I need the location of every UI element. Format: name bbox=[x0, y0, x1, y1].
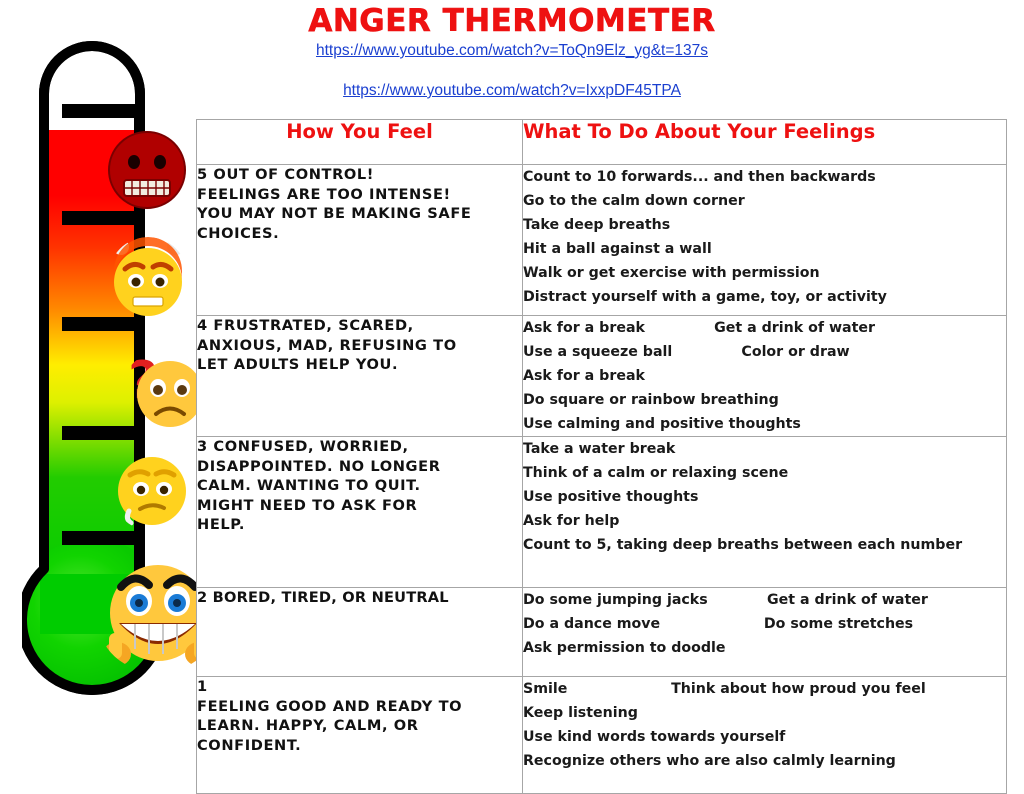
do-cell-level-4: Ask for a break Get a drink of water Use… bbox=[523, 316, 1007, 437]
header-what-to-do: What To Do About Your Feelings bbox=[523, 120, 1007, 165]
do-line: Use kind words towards yourself bbox=[523, 725, 1006, 749]
do-line: Ask for a break Get a drink of water bbox=[523, 316, 1006, 340]
feel-cell-level-5: 5 OUT OF CONTROL! FEELINGS ARE TOO INTEN… bbox=[197, 165, 523, 316]
thermometer-tick-1 bbox=[62, 531, 140, 545]
emoji-worried-face bbox=[112, 451, 192, 531]
emoji-confused-question-face: ? bbox=[122, 350, 206, 432]
thermometer-tick-2 bbox=[62, 426, 140, 440]
do-line: Use calming and positive thoughts bbox=[523, 412, 1006, 436]
do-line: Distract yourself with a game, toy, or a… bbox=[523, 285, 1006, 309]
do-line: Walk or get exercise with permission bbox=[523, 261, 1006, 285]
do-line: Think of a calm or relaxing scene bbox=[523, 461, 1006, 485]
do-line: Go to the calm down corner bbox=[523, 189, 1006, 213]
do-cell-level-3: Take a water break Think of a calm or re… bbox=[523, 437, 1007, 588]
do-line: Use positive thoughts bbox=[523, 485, 1006, 509]
do-line: Use a squeeze ball Color or draw bbox=[523, 340, 1006, 364]
do-cell-level-5: Count to 10 forwards... and then backwar… bbox=[523, 165, 1007, 316]
do-line: Ask permission to doodle bbox=[523, 636, 1006, 660]
table-row: 5 OUT OF CONTROL! FEELINGS ARE TOO INTEN… bbox=[197, 165, 1007, 316]
do-line: Do a dance move Do some stretches bbox=[523, 612, 1006, 636]
anger-thermometer-gauge: ? bbox=[22, 34, 207, 784]
feelings-table: How You Feel What To Do About Your Feeli… bbox=[196, 119, 1007, 794]
table-row: 3 CONFUSED, WORRIED, DISAPPOINTED. NO LO… bbox=[197, 437, 1007, 588]
do-line: Take a water break bbox=[523, 437, 1006, 461]
emoji-angry-red-face bbox=[107, 130, 187, 210]
do-cell-level-2: Do some jumping jacks Get a drink of wat… bbox=[523, 588, 1007, 677]
thermometer-tick-5 bbox=[62, 104, 140, 118]
table-row: 1 FEELING GOOD AND READY TO LEARN. HAPPY… bbox=[197, 677, 1007, 794]
do-line: Count to 10 forwards... and then backwar… bbox=[523, 165, 1006, 189]
feel-cell-level-4: 4 FRUSTRATED, SCARED, ANXIOUS, MAD, REFU… bbox=[197, 316, 523, 437]
do-line: Do square or rainbow breathing bbox=[523, 388, 1006, 412]
thermometer-tick-3 bbox=[62, 317, 140, 331]
do-line: Take deep breaths bbox=[523, 213, 1006, 237]
thermometer-tick-4 bbox=[62, 211, 140, 225]
header-how-you-feel: How You Feel bbox=[197, 120, 523, 165]
feel-cell-level-3: 3 CONFUSED, WORRIED, DISAPPOINTED. NO LO… bbox=[197, 437, 523, 588]
table-header-row: How You Feel What To Do About Your Feeli… bbox=[197, 120, 1007, 165]
feel-cell-level-2: 2 BORED, TIRED, OR NEUTRAL bbox=[197, 588, 523, 677]
do-line: Count to 5, taking deep breaths between … bbox=[523, 533, 1006, 557]
do-line: Do some jumping jacks Get a drink of wat… bbox=[523, 588, 1006, 612]
table-row: 2 BORED, TIRED, OR NEUTRAL Do some jumpi… bbox=[197, 588, 1007, 677]
do-line: Ask for a break bbox=[523, 364, 1006, 388]
page-title: ANGER THERMOMETER bbox=[0, 0, 1024, 38]
do-line: Recognize others who are also calmly lea… bbox=[523, 749, 1006, 773]
do-line: Smile Think about how proud you feel bbox=[523, 677, 1006, 701]
do-cell-level-1: Smile Think about how proud you feel Kee… bbox=[523, 677, 1007, 794]
do-line: Hit a ball against a wall bbox=[523, 237, 1006, 261]
table-row: 4 FRUSTRATED, SCARED, ANXIOUS, MAD, REFU… bbox=[197, 316, 1007, 437]
emoji-mad-grimacing-face bbox=[108, 237, 188, 319]
do-line: Keep listening bbox=[523, 701, 1006, 725]
feel-cell-level-1: 1 FEELING GOOD AND READY TO LEARN. HAPPY… bbox=[197, 677, 523, 794]
do-line: Ask for help bbox=[523, 509, 1006, 533]
